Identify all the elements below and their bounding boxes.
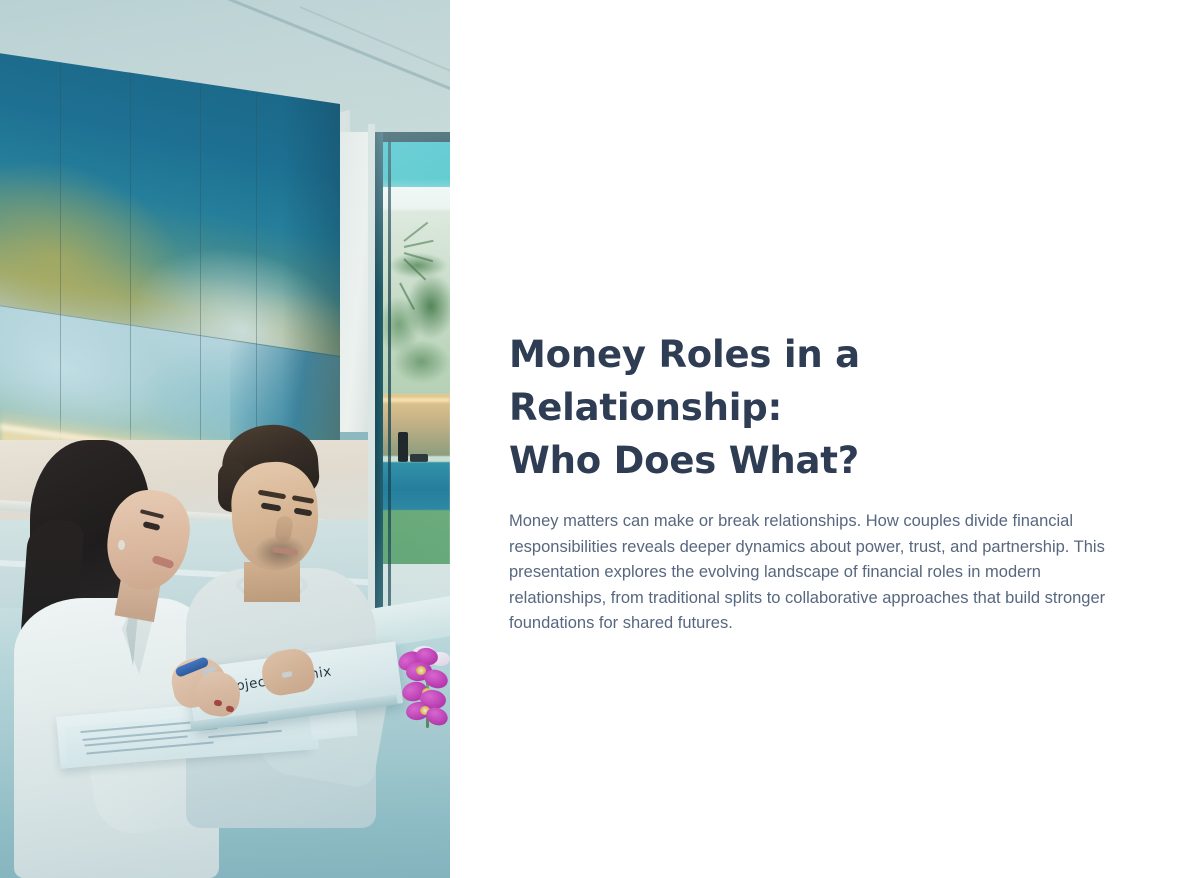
woman-earring: [118, 540, 125, 550]
text-block: Money Roles in a Relationship: Who Does …: [509, 328, 1114, 637]
white-column: [338, 132, 370, 432]
slide-root: Project Phoenix: [0, 0, 1189, 878]
hero-image-panel: Project Phoenix: [0, 0, 450, 878]
page-title: Money Roles in a Relationship: Who Does …: [509, 328, 1114, 487]
orchid-flowers: [396, 646, 450, 732]
window-glass-glare: [374, 132, 450, 652]
hero-photo: Project Phoenix: [0, 0, 450, 878]
intro-paragraph: Money matters can make or break relation…: [509, 509, 1113, 637]
content-panel: Money Roles in a Relationship: Who Does …: [450, 0, 1189, 878]
ceiling-seam-secondary: [300, 6, 450, 102]
